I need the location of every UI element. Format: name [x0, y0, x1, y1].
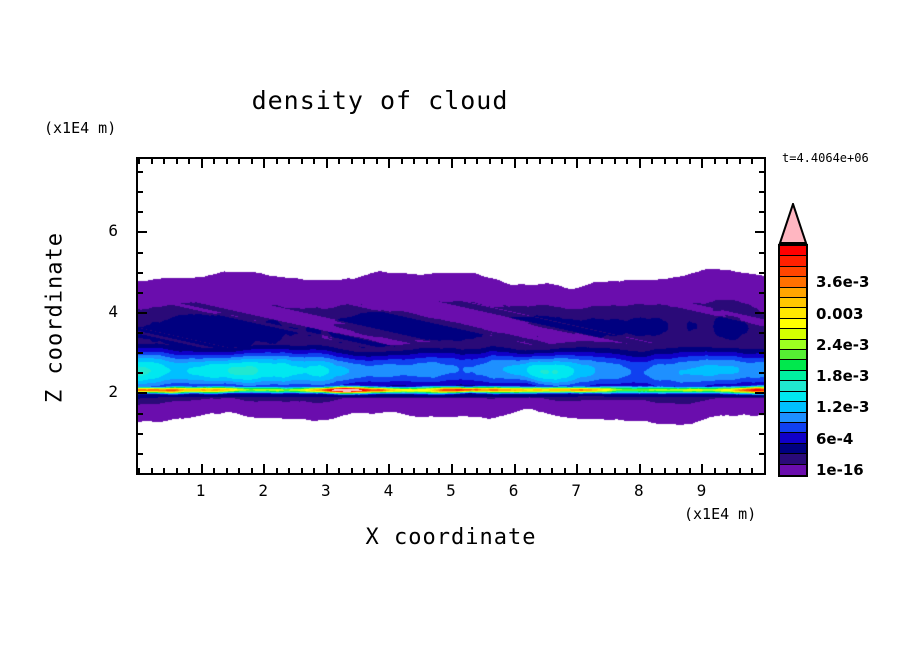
x-minor-tick — [301, 468, 303, 473]
colorbar-tick-label: 1e-16 — [816, 461, 864, 479]
colorbar-band — [780, 288, 806, 298]
x-minor-tick — [413, 468, 415, 473]
x-minor-tick — [676, 468, 678, 473]
x-minor-tick — [564, 468, 566, 473]
x-minor-tick — [664, 468, 666, 473]
x-minor-tick-top — [151, 159, 153, 164]
x-minor-tick-top — [664, 159, 666, 164]
y-minor-tick — [138, 473, 143, 475]
y-major-tick-right — [755, 312, 764, 314]
x-tick-label: 5 — [439, 481, 463, 500]
x-major-tick-top — [514, 159, 516, 168]
x-minor-tick — [489, 468, 491, 473]
x-minor-tick-top — [526, 159, 528, 164]
colorbar-band — [780, 423, 806, 433]
x-minor-tick — [351, 468, 353, 473]
x-major-tick-top — [326, 159, 328, 168]
y-minor-tick-right — [759, 252, 764, 254]
x-minor-tick — [401, 468, 403, 473]
x-minor-tick-top — [551, 159, 553, 164]
x-major-tick-top — [576, 159, 578, 168]
y-tick-label: 2 — [94, 382, 118, 401]
x-minor-tick-top — [251, 159, 253, 164]
x-minor-tick — [376, 468, 378, 473]
x-minor-tick-top — [764, 159, 766, 164]
colorbar-band — [780, 256, 806, 266]
x-minor-tick-top — [238, 159, 240, 164]
x-tick-label: 4 — [376, 481, 400, 500]
y-minor-tick-right — [759, 332, 764, 334]
x-minor-tick-top — [589, 159, 591, 164]
contour-field — [138, 159, 764, 473]
x-minor-tick-top — [438, 159, 440, 164]
y-minor-tick-right — [759, 272, 764, 274]
x-minor-tick — [426, 468, 428, 473]
colorbar-bands — [778, 244, 808, 477]
x-minor-tick-top — [751, 159, 753, 164]
colorbar-tick-label: 0.003 — [816, 305, 863, 323]
x-minor-tick-top — [401, 159, 403, 164]
colorbar-band — [780, 371, 806, 381]
y-minor-tick — [138, 171, 143, 173]
colorbar-tick-label: 1.8e-3 — [816, 367, 869, 385]
y-minor-tick-right — [759, 191, 764, 193]
x-minor-tick-top — [413, 159, 415, 164]
colorbar-tick-label: 2.4e-3 — [816, 336, 869, 354]
x-minor-tick-top — [564, 159, 566, 164]
x-minor-tick-top — [338, 159, 340, 164]
x-major-tick-top — [639, 159, 641, 168]
colorbar-band — [780, 392, 806, 402]
colorbar-band — [780, 350, 806, 360]
y-minor-tick — [138, 272, 143, 274]
y-minor-tick-right — [759, 292, 764, 294]
x-major-tick — [201, 464, 203, 473]
colorbar-band — [780, 329, 806, 339]
x-minor-tick-top — [464, 159, 466, 164]
x-minor-tick — [338, 468, 340, 473]
x-minor-tick-top — [376, 159, 378, 164]
x-major-tick-top — [263, 159, 265, 168]
y-major-tick-right — [755, 392, 764, 394]
x-minor-tick-top — [714, 159, 716, 164]
x-minor-tick — [601, 468, 603, 473]
y-minor-tick — [138, 252, 143, 254]
y-minor-tick-right — [759, 372, 764, 374]
y-minor-tick — [138, 332, 143, 334]
colorbar-band — [780, 340, 806, 350]
x-major-tick — [326, 464, 328, 473]
x-minor-tick-top — [351, 159, 353, 164]
y-minor-tick-right — [759, 171, 764, 173]
y-minor-tick — [138, 413, 143, 415]
y-minor-tick-right — [759, 433, 764, 435]
x-major-tick-top — [701, 159, 703, 168]
y-minor-tick-right — [759, 352, 764, 354]
timestamp-annotation: t=4.4064e+06 — [782, 151, 869, 165]
x-minor-tick — [276, 468, 278, 473]
x-major-tick — [576, 464, 578, 473]
colorbar-band — [780, 465, 806, 475]
x-minor-tick — [751, 468, 753, 473]
x-minor-tick — [726, 468, 728, 473]
x-minor-tick-top — [739, 159, 741, 164]
x-minor-tick — [539, 468, 541, 473]
x-minor-tick — [176, 468, 178, 473]
x-minor-tick-top — [501, 159, 503, 164]
page-title: density of cloud — [0, 86, 760, 115]
y-minor-tick — [138, 292, 143, 294]
x-minor-tick — [589, 468, 591, 473]
x-minor-tick-top — [476, 159, 478, 164]
y-minor-tick — [138, 372, 143, 374]
y-minor-tick-right — [759, 473, 764, 475]
x-major-tick-top — [201, 159, 203, 168]
x-minor-tick — [614, 468, 616, 473]
x-minor-tick — [464, 468, 466, 473]
y-minor-tick-right — [759, 211, 764, 213]
x-minor-tick — [526, 468, 528, 473]
x-major-tick-top — [451, 159, 453, 168]
y-minor-tick — [138, 453, 143, 455]
colorbar-tick-label: 6e-4 — [816, 430, 853, 448]
colorbar-band — [780, 413, 806, 423]
x-minor-tick-top — [226, 159, 228, 164]
x-minor-tick — [226, 468, 228, 473]
y-axis-title: Z coordinate — [43, 218, 68, 418]
x-minor-tick — [238, 468, 240, 473]
colorbar-band — [780, 360, 806, 370]
x-major-tick-top — [388, 159, 390, 168]
colorbar-band — [780, 402, 806, 412]
x-axis-title: X coordinate — [136, 525, 766, 550]
y-major-tick — [138, 231, 147, 233]
colorbar-band — [780, 381, 806, 391]
x-minor-tick — [188, 468, 190, 473]
x-minor-tick — [213, 468, 215, 473]
x-minor-tick-top — [288, 159, 290, 164]
x-minor-tick-top — [726, 159, 728, 164]
colorbar-band — [780, 433, 806, 443]
x-minor-tick — [689, 468, 691, 473]
x-minor-tick — [288, 468, 290, 473]
x-minor-tick — [363, 468, 365, 473]
y-tick-label: 4 — [94, 302, 118, 321]
x-major-tick — [263, 464, 265, 473]
x-minor-tick-top — [301, 159, 303, 164]
x-minor-tick-top — [426, 159, 428, 164]
x-minor-tick-top — [276, 159, 278, 164]
x-minor-tick-top — [213, 159, 215, 164]
x-minor-tick — [163, 468, 165, 473]
y-minor-tick — [138, 191, 143, 193]
x-major-tick — [701, 464, 703, 473]
x-minor-tick — [626, 468, 628, 473]
x-minor-tick — [764, 468, 766, 473]
x-tick-label: 2 — [251, 481, 275, 500]
x-minor-tick — [151, 468, 153, 473]
x-minor-tick-top — [676, 159, 678, 164]
x-minor-tick-top — [601, 159, 603, 164]
x-minor-tick-top — [626, 159, 628, 164]
z-axis-unit-label: (x1E4 m) — [44, 119, 116, 137]
x-minor-tick-top — [363, 159, 365, 164]
colorbar-band — [780, 319, 806, 329]
y-minor-tick-right — [759, 453, 764, 455]
x-minor-tick — [476, 468, 478, 473]
x-minor-tick-top — [188, 159, 190, 164]
colorbar-tick-label: 3.6e-3 — [816, 273, 869, 291]
x-minor-tick — [501, 468, 503, 473]
x-minor-tick — [313, 468, 315, 473]
x-minor-tick-top — [163, 159, 165, 164]
x-major-tick — [451, 464, 453, 473]
x-minor-tick-top — [313, 159, 315, 164]
y-major-tick — [138, 392, 147, 394]
x-minor-tick — [739, 468, 741, 473]
x-tick-label: 8 — [627, 481, 651, 500]
colorbar: 3.6e-30.0032.4e-31.8e-31.2e-36e-41e-16 — [778, 203, 898, 483]
x-major-tick — [388, 464, 390, 473]
colorbar-band — [780, 267, 806, 277]
x-minor-tick — [438, 468, 440, 473]
x-minor-tick-top — [539, 159, 541, 164]
y-major-tick — [138, 312, 147, 314]
x-minor-tick — [251, 468, 253, 473]
colorbar-band — [780, 454, 806, 464]
x-minor-tick-top — [138, 159, 140, 164]
x-tick-label: 7 — [564, 481, 588, 500]
x-minor-tick-top — [489, 159, 491, 164]
y-minor-tick-right — [759, 413, 764, 415]
colorbar-band — [780, 444, 806, 454]
y-minor-tick — [138, 211, 143, 213]
y-major-tick-right — [755, 231, 764, 233]
colorbar-band — [780, 246, 806, 256]
y-tick-label: 6 — [94, 221, 118, 240]
x-tick-label: 3 — [314, 481, 338, 500]
x-minor-tick — [714, 468, 716, 473]
x-axis-unit-label: (x1E4 m) — [684, 505, 756, 523]
y-minor-tick — [138, 433, 143, 435]
colorbar-tick-label: 1.2e-3 — [816, 398, 869, 416]
colorbar-band — [780, 277, 806, 287]
x-minor-tick — [651, 468, 653, 473]
x-tick-label: 9 — [689, 481, 713, 500]
x-minor-tick-top — [614, 159, 616, 164]
x-tick-label: 6 — [502, 481, 526, 500]
x-major-tick — [514, 464, 516, 473]
x-minor-tick — [551, 468, 553, 473]
x-tick-label: 1 — [189, 481, 213, 500]
x-minor-tick-top — [689, 159, 691, 164]
x-major-tick — [639, 464, 641, 473]
colorbar-overflow-arrow-icon — [778, 203, 808, 245]
x-minor-tick-top — [651, 159, 653, 164]
x-minor-tick-top — [176, 159, 178, 164]
y-minor-tick — [138, 352, 143, 354]
colorbar-band — [780, 308, 806, 318]
plot-frame — [136, 157, 766, 475]
colorbar-band — [780, 298, 806, 308]
